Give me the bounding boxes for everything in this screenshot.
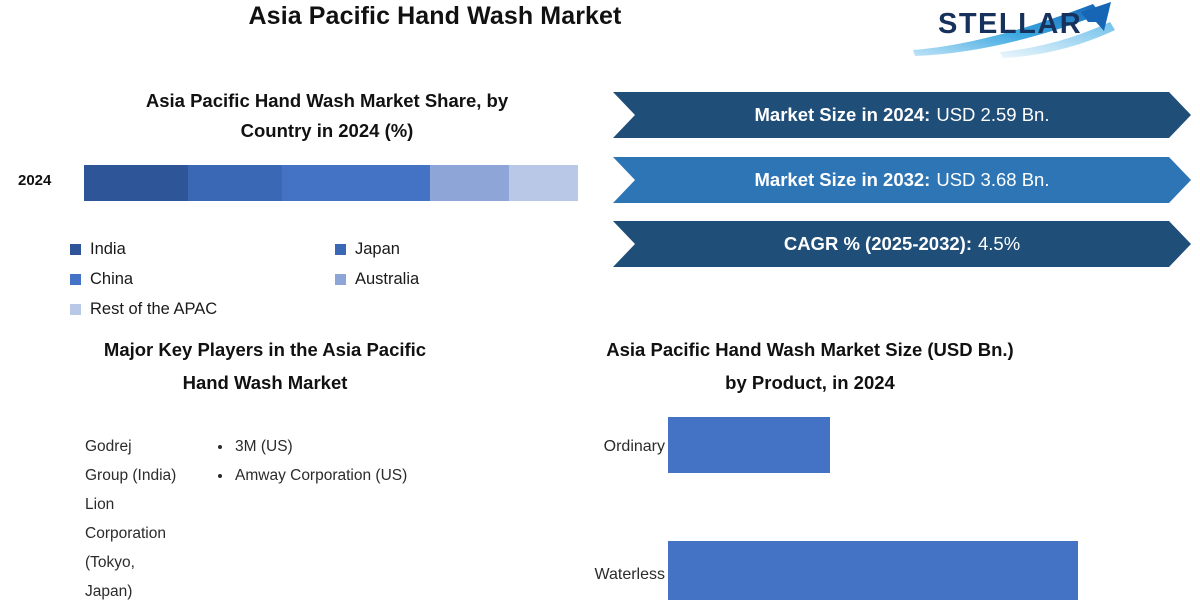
- banner-text: CAGR % (2025-2032): 4.5%: [613, 221, 1191, 267]
- key-player-text-line: Group (India): [85, 461, 200, 490]
- share-chart-title: Asia Pacific Hand Wash Market Share, by …: [72, 86, 582, 146]
- legend-label: Rest of the APAC: [90, 301, 217, 318]
- legend-swatch-icon: [70, 304, 81, 315]
- legend-label: India: [90, 241, 126, 258]
- legend-swatch-icon: [70, 274, 81, 285]
- key-player-list-item: Amway Corporation (US): [233, 461, 440, 490]
- svg-text:STELLAR: STELLAR: [938, 8, 1082, 40]
- stellar-logo: STELLAR Market Research Pvt. Ltd.: [905, 0, 1190, 60]
- legend-swatch-icon: [70, 244, 81, 255]
- key-player-list-item: 3M (US): [233, 432, 440, 461]
- legend-label: Japan: [355, 241, 400, 258]
- legend-item-china: China: [70, 271, 335, 288]
- share-stacked-bar: [84, 165, 578, 201]
- banner-label: Market Size in 2024:: [755, 104, 931, 126]
- legend-item-india: India: [70, 241, 335, 258]
- key-players-left-column: GodrejGroup (India)LionCorporation(Tokyo…: [20, 432, 200, 606]
- key-players-right-column: 3M (US)Amway Corporation (US): [200, 432, 440, 606]
- share-chart-title-line2: Country in 2024 (%): [72, 116, 582, 146]
- product-bar-waterless: [668, 541, 1078, 600]
- key-player-text-line: Japan): [85, 577, 200, 606]
- legend-item-australia: Australia: [335, 271, 419, 288]
- product-chart-title: Asia Pacific Hand Wash Market Size (USD …: [600, 333, 1020, 399]
- banner-label: CAGR % (2025-2032):: [784, 233, 972, 255]
- legend-item-rest-of-the-apac: Rest of the APAC: [70, 301, 335, 318]
- banner-value: 4.5%: [978, 233, 1020, 255]
- product-chart-title-line1: Asia Pacific Hand Wash Market Size (USD …: [600, 333, 1020, 366]
- key-players-title: Major Key Players in the Asia Pacific Ha…: [20, 333, 510, 399]
- key-player-text-line: (Tokyo,: [85, 548, 200, 577]
- logo-icon: STELLAR: [905, 0, 1190, 60]
- product-bar-label-waterless: Waterless: [490, 566, 665, 584]
- share-segment-japan: [188, 165, 282, 201]
- share-chart-year-label: 2024: [18, 172, 51, 189]
- cagr-banner: CAGR % (2025-2032): 4.5%: [613, 221, 1191, 267]
- banner-label: Market Size in 2032:: [755, 169, 931, 191]
- market-size-2024-banner: Market Size in 2024: USD 2.59 Bn.: [613, 92, 1191, 138]
- legend-label: Australia: [355, 271, 419, 288]
- product-bar-ordinary: [668, 417, 830, 473]
- page-title: Asia Pacific Hand Wash Market: [0, 2, 870, 31]
- share-segment-china: [282, 165, 430, 201]
- banner-text: Market Size in 2024: USD 2.59 Bn.: [613, 92, 1191, 138]
- product-chart-title-line2: by Product, in 2024: [600, 366, 1020, 399]
- key-players-title-line1: Major Key Players in the Asia Pacific: [20, 333, 510, 366]
- share-segment-india: [84, 165, 188, 201]
- banner-value: USD 3.68 Bn.: [936, 169, 1049, 191]
- share-chart-legend: IndiaJapanChinaAustraliaRest of the APAC: [70, 234, 490, 324]
- product-bar-label-ordinary: Ordinary: [490, 438, 665, 456]
- banner-text: Market Size in 2032: USD 3.68 Bn.: [613, 157, 1191, 203]
- key-players-title-line2: Hand Wash Market: [20, 366, 510, 399]
- share-segment-rest-of-the-apac: [509, 165, 578, 201]
- legend-item-japan: Japan: [335, 241, 400, 258]
- legend-swatch-icon: [335, 274, 346, 285]
- legend-label: China: [90, 271, 133, 288]
- legend-swatch-icon: [335, 244, 346, 255]
- key-player-text-line: Lion: [85, 490, 200, 519]
- key-players-columns: GodrejGroup (India)LionCorporation(Tokyo…: [20, 432, 520, 606]
- share-chart-title-line1: Asia Pacific Hand Wash Market Share, by: [72, 86, 582, 116]
- share-segment-australia: [430, 165, 509, 201]
- banner-value: USD 2.59 Bn.: [936, 104, 1049, 126]
- key-player-text-line: Godrej: [85, 432, 200, 461]
- key-player-text-line: Corporation: [85, 519, 200, 548]
- market-size-2032-banner: Market Size in 2032: USD 3.68 Bn.: [613, 157, 1191, 203]
- infographic-canvas: Asia Pacific Hand Wash Market STELLAR Ma…: [0, 0, 1200, 600]
